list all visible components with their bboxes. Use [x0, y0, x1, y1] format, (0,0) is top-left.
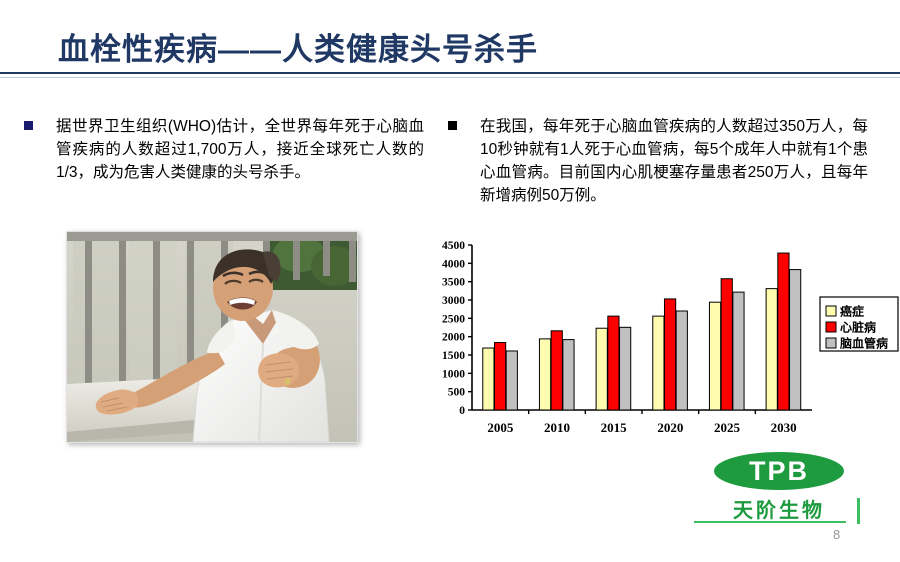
bar-2025-癌症	[709, 302, 720, 410]
company-logo: TPB 天阶生物	[700, 452, 858, 522]
y-axis-tick-label: 4000	[442, 258, 465, 270]
x-axis-tick-label: 2030	[771, 420, 797, 435]
page-title: 血栓性疾病——人类健康头号杀手	[58, 24, 538, 69]
bar-2020-癌症	[653, 316, 664, 410]
bar-2025-心脏病	[721, 279, 732, 410]
photo-heart-attack	[66, 231, 358, 443]
photo-illustration	[67, 232, 357, 442]
legend-label-脑血管病: 脑血管病	[839, 336, 888, 351]
y-axis-tick-label: 4500	[442, 240, 465, 252]
logo-underline-rule	[694, 521, 846, 523]
y-axis-tick-label: 3000	[442, 295, 465, 307]
bullet-item-right: 在我国，每年死于心脑血管疾病的人数超过350万人，每10秒钟就有1人死于心血管病…	[448, 115, 868, 207]
bar-2005-心脏病	[494, 343, 505, 410]
title-divider-secondary	[0, 77, 900, 78]
legend-label-癌症: 癌症	[840, 304, 864, 319]
logo-mark-text: TPB	[714, 452, 844, 490]
logo-mark: TPB	[700, 452, 858, 492]
logo-company-name: 天阶生物	[700, 494, 858, 523]
bullet-left-text: 据世界卫生组织(WHO)估计，全世界每年死于心脑血管疾病的人数超过1,700万人…	[56, 115, 424, 184]
legend-swatch-脑血管病	[826, 338, 836, 348]
chart-svg: 0500100015002000250030003500400045002005…	[430, 235, 900, 450]
bar-2030-癌症	[766, 289, 777, 410]
y-axis-tick-label: 1500	[442, 350, 465, 362]
x-axis-tick-label: 2020	[657, 420, 683, 435]
y-axis-tick-label: 500	[448, 387, 466, 399]
bar-2005-癌症	[483, 348, 494, 410]
square-bullet-icon	[24, 121, 33, 130]
bar-2030-心脏病	[778, 253, 789, 410]
legend-label-心脏病: 心脏病	[840, 320, 876, 335]
bar-2015-脑血管病	[620, 327, 631, 410]
x-axis-tick-label: 2005	[487, 420, 513, 435]
bar-2015-心脏病	[608, 316, 619, 410]
y-axis-tick-label: 2500	[442, 313, 465, 325]
legend-swatch-心脏病	[826, 322, 836, 332]
y-axis-tick-label: 2000	[442, 332, 465, 344]
y-axis-tick-label: 3500	[442, 277, 465, 289]
bar-2010-癌症	[539, 339, 550, 410]
bullet-right-text: 在我国，每年死于心脑血管疾病的人数超过350万人，每10秒钟就有1人死于心血管病…	[480, 115, 868, 207]
bar-2020-心脏病	[664, 299, 675, 410]
bar-2015-癌症	[596, 328, 607, 410]
bar-2005-脑血管病	[506, 351, 517, 410]
x-axis-tick-label: 2025	[714, 420, 741, 435]
bar-2025-脑血管病	[733, 292, 744, 410]
square-bullet-icon	[448, 121, 457, 130]
x-axis-tick-label: 2010	[544, 420, 570, 435]
title-divider	[0, 72, 900, 74]
bar-2020-脑血管病	[676, 311, 687, 410]
legend-swatch-癌症	[826, 306, 836, 316]
page-number: 8	[833, 527, 840, 542]
x-axis-tick-label: 2015	[601, 420, 628, 435]
y-axis-tick-label: 0	[459, 405, 465, 417]
bar-2030-脑血管病	[790, 270, 801, 410]
y-axis-tick-label: 1000	[442, 368, 465, 380]
bullet-item-left: 据世界卫生组织(WHO)估计，全世界每年死于心脑血管疾病的人数超过1,700万人…	[24, 115, 424, 184]
bar-2010-脑血管病	[563, 340, 574, 410]
logo-accent-bar	[857, 498, 860, 524]
bar-2010-心脏病	[551, 331, 562, 410]
bar-chart: 0500100015002000250030003500400045002005…	[430, 235, 900, 450]
